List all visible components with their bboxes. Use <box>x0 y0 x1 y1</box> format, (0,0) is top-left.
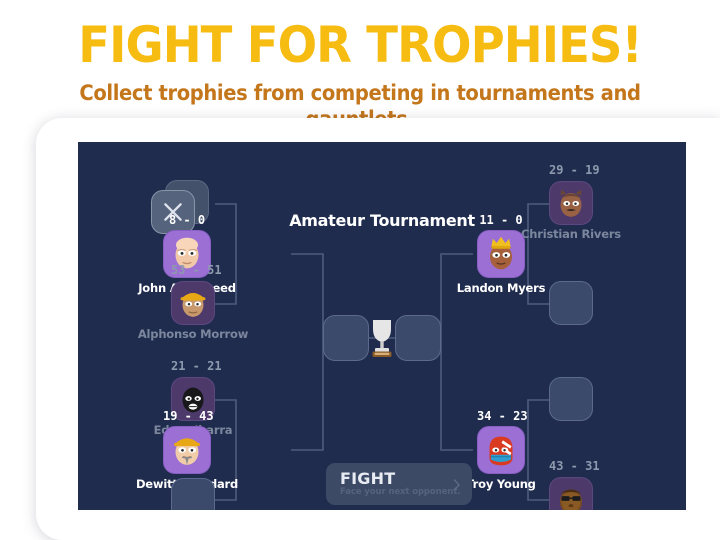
bracket-slot-right-r2-top[interactable] <box>477 230 525 278</box>
fight-button[interactable]: FIGHT Face your next opponent. <box>326 463 472 505</box>
goatee-hardhat-avatar <box>164 427 210 473</box>
bracket-score-right-r1-top: 29 - 19 <box>549 164 593 177</box>
bracket-slot-left-r1-second[interactable] <box>171 281 215 325</box>
masked-fighter-avatar <box>478 427 524 473</box>
chevron-right-icon <box>453 479 461 491</box>
bracket-score-left-r2-top: 8 - 0 <box>163 214 211 227</box>
bracket-slot-left-semi[interactable] <box>323 315 369 361</box>
bracket-slot-right-semi[interactable] <box>395 315 441 361</box>
bracket-name-left-r1-second: Alphonso Morrow <box>138 328 248 341</box>
promo-header: FIGHT FOR TROPHIES! Collect trophies fro… <box>0 0 720 116</box>
hardhat-man-avatar <box>172 282 214 324</box>
bracket-score-left-r1-second: 53 - 51 <box>171 264 215 277</box>
device-frame: 8 - 0 John Appleseed 53 - 51 Alphonso Mo… <box>36 118 720 540</box>
bracket-slot-right-r1-second[interactable] <box>549 281 593 325</box>
fight-button-title: FIGHT <box>340 470 395 487</box>
tournament-title: Amateur Tournament <box>289 212 475 230</box>
fight-button-subtitle: Face your next opponent. <box>340 487 460 497</box>
bracket-slot-left-r2-bottom[interactable] <box>163 426 211 474</box>
bracket-score-left-r1-third: 21 - 21 <box>171 360 215 373</box>
bracket-score-left-r2-bottom: 19 - 43 <box>163 410 211 423</box>
bracket-name-right-r1-top: Christian Rivers <box>521 228 621 241</box>
bracket-slot-right-r2-bottom[interactable] <box>477 426 525 474</box>
bearded-shades-avatar <box>550 478 592 510</box>
bracket-name-right-r2-bottom: Troy Young <box>466 478 535 491</box>
bracket-slot-right-r1-top[interactable] <box>549 181 593 225</box>
bracket-slot-right-r1-third[interactable] <box>549 377 593 421</box>
app-screen: 8 - 0 John Appleseed 53 - 51 Alphonso Mo… <box>78 142 686 510</box>
crown-king-avatar <box>478 231 524 277</box>
bracket-name-right-r2-top: Landon Myers <box>457 282 545 295</box>
bracket-slot-right-r1-bottom[interactable] <box>549 477 593 510</box>
bracket-score-right-r2-bottom: 34 - 23 <box>477 410 525 423</box>
bracket-score-right-r1-bottom: 43 - 31 <box>549 460 593 473</box>
mustache-man-avatar <box>550 182 592 224</box>
bracket-slot-left-r1-bottom[interactable] <box>171 478 215 510</box>
bracket-score-right-r2-top: 11 - 0 <box>477 214 525 227</box>
trophy-icon <box>365 314 399 360</box>
page-title: FIGHT FOR TROPHIES! <box>25 16 695 74</box>
bracket-slot-left-r1-top[interactable] <box>151 190 195 234</box>
